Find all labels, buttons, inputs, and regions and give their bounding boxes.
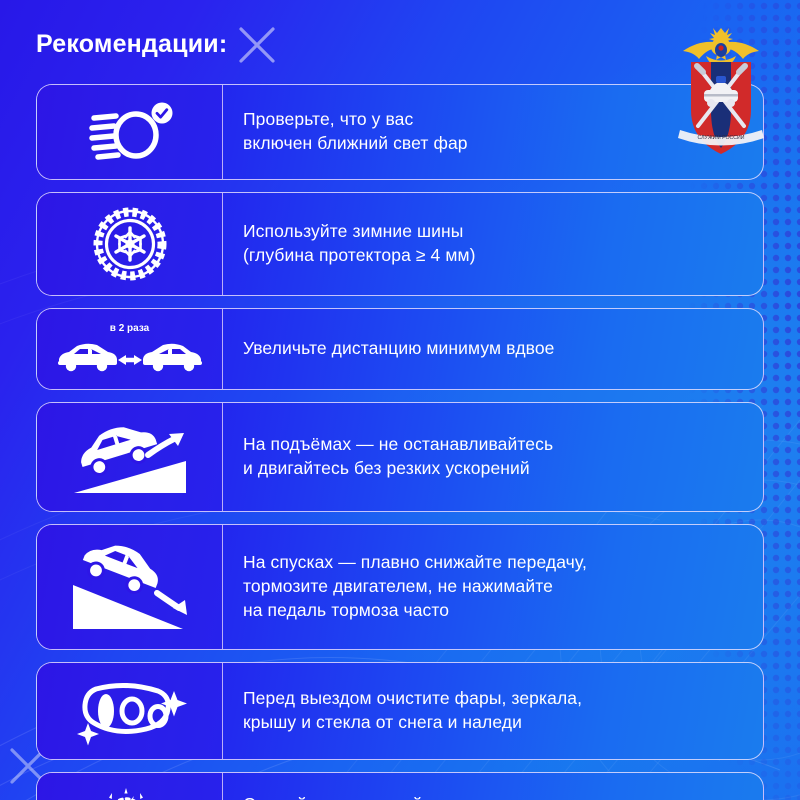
car-uphill-arrow-icon [66, 415, 194, 499]
list-item[interactable]: в 2 раза [36, 308, 764, 390]
list-item[interactable]: На спусках — плавно снижайте передачу, т… [36, 524, 764, 650]
winter-tire-snowflake-icon [91, 205, 169, 283]
shield-icon: СЛУЖИМ РОССИИ [678, 62, 764, 154]
list-item[interactable]: Проверьте, что у вас включен ближний све… [36, 84, 764, 180]
card-text-panel: На подъёмах — не останавливайтесь и двиг… [223, 403, 763, 511]
recommendation-list: Проверьте, что у вас включен ближний све… [36, 84, 764, 800]
card-icon-panel [37, 773, 223, 800]
card-text: Снижайте скоростной режим при подъезде и… [243, 793, 597, 800]
card-text: На спусках — плавно снижайте передачу, т… [243, 551, 587, 622]
list-item[interactable]: На подъёмах — не останавливайтесь и двиг… [36, 402, 764, 512]
speed-warning-icon [100, 788, 151, 800]
x-mark-top-icon [234, 22, 280, 68]
card-text-panel: На спусках — плавно снижайте передачу, т… [223, 525, 763, 649]
card-icon-panel: в 2 раза [37, 309, 223, 389]
card-text: На подъёмах — не останавливайтесь и двиг… [243, 433, 553, 481]
list-item[interactable]: Перед выездом очистите фары, зеркала, кр… [36, 662, 764, 760]
card-icon-panel [37, 663, 223, 759]
card-icon-panel [37, 403, 223, 511]
card-text: Проверьте, что у вас включен ближний све… [243, 108, 468, 156]
card-icon-panel [37, 193, 223, 295]
list-item[interactable]: Используйте зимние шины (глубина протект… [36, 192, 764, 296]
headlight-low-beam-check-icon [78, 101, 182, 163]
page-title: Рекомендации: [36, 30, 227, 59]
card-icon-panel [37, 525, 223, 649]
clean-headlight-sparkle-icon [68, 675, 192, 747]
two-cars-distance-icon [55, 337, 205, 375]
car-downhill-arrow-icon [65, 537, 195, 637]
card-text-panel: Используйте зимние шины (глубина протект… [223, 193, 763, 295]
list-item[interactable]: Снижайте скоростной режим при подъезде и… [36, 772, 764, 800]
svg-text:СЛУЖИМ РОССИИ: СЛУЖИМ РОССИИ [698, 135, 745, 141]
distance-note-label: в 2 раза [110, 324, 149, 334]
card-text: Используйте зимние шины (глубина протект… [243, 220, 476, 268]
gibdd-emblem: СЛУЖИМ РОССИИ [666, 18, 776, 163]
card-text-panel: Увеличьте дистанцию минимум вдвое [223, 309, 763, 389]
infographic-root: Рекомендации: [0, 0, 800, 800]
card-icon-panel [37, 85, 223, 179]
card-text: Увеличьте дистанцию минимум вдвое [243, 337, 555, 361]
car-on-bridge-speed-icon [54, 784, 206, 800]
card-text: Перед выездом очистите фары, зеркала, кр… [243, 687, 582, 735]
card-text-panel: Перед выездом очистите фары, зеркала, кр… [223, 663, 763, 759]
card-text-panel: Снижайте скоростной режим при подъезде и… [223, 773, 763, 800]
